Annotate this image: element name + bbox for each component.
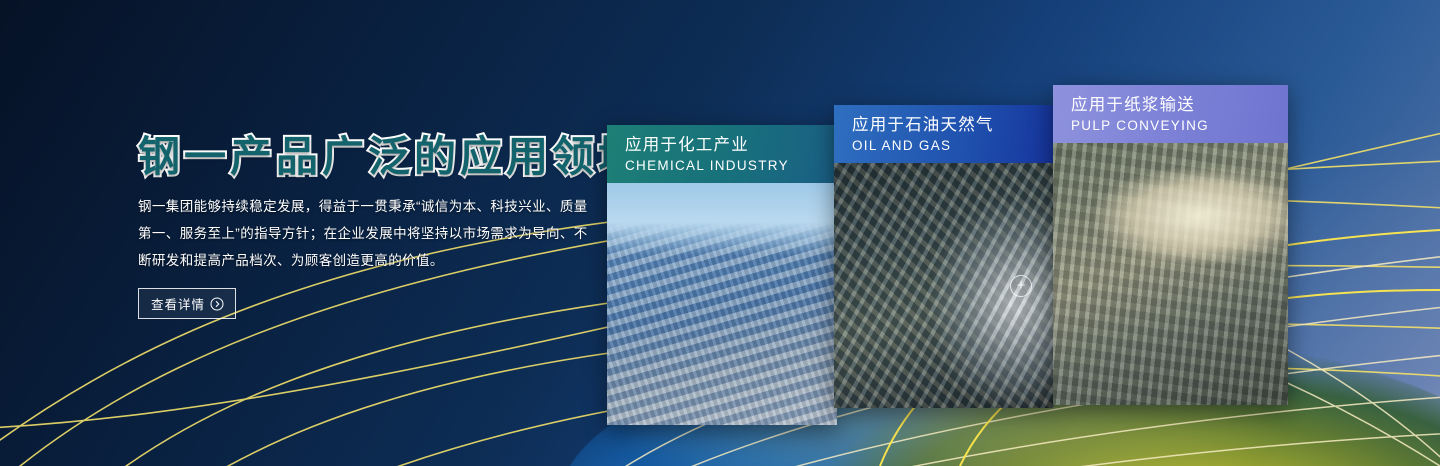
card-image-pulp bbox=[1053, 143, 1288, 405]
card-title-en: OIL AND GAS bbox=[852, 137, 1054, 155]
page-title: 钢一产品广泛的应用领域 bbox=[138, 134, 608, 179]
card-title-cn: 应用于纸浆输送 bbox=[1071, 95, 1288, 116]
card-image-chemical bbox=[607, 183, 837, 425]
zoom-in-icon[interactable]: + bbox=[1010, 275, 1032, 297]
view-details-label: 查看详情 bbox=[151, 294, 205, 313]
card-image-oil-gas: + bbox=[834, 163, 1054, 408]
hero-banner: 钢一产品广泛的应用领域 钢一集团能够持续稳定发展，得益于一贯秉承“诚信为本、科技… bbox=[0, 0, 1440, 466]
hero-description: 钢一集团能够持续稳定发展，得益于一贯秉承“诚信为本、科技兴业、质量第一、服务至上… bbox=[138, 193, 588, 274]
card-title-en: CHEMICAL INDUSTRY bbox=[625, 157, 837, 175]
application-card-chemical[interactable]: 应用于化工产业 CHEMICAL INDUSTRY bbox=[607, 125, 837, 425]
card-title-en: PULP CONVEYING bbox=[1071, 117, 1288, 135]
card-header-chemical: 应用于化工产业 CHEMICAL INDUSTRY bbox=[607, 125, 837, 183]
card-header-oil-gas: 应用于石油天然气 OIL AND GAS bbox=[834, 105, 1054, 163]
card-title-cn: 应用于石油天然气 bbox=[852, 115, 1054, 136]
chevron-right-circle-icon bbox=[210, 297, 224, 311]
card-title-cn: 应用于化工产业 bbox=[625, 135, 837, 156]
view-details-button[interactable]: 查看详情 bbox=[138, 288, 236, 319]
card-header-pulp: 应用于纸浆输送 PULP CONVEYING bbox=[1053, 85, 1288, 143]
application-card-pulp[interactable]: 应用于纸浆输送 PULP CONVEYING bbox=[1053, 85, 1288, 405]
application-card-oil-gas[interactable]: 应用于石油天然气 OIL AND GAS + bbox=[834, 105, 1054, 408]
hero-copy: 钢一产品广泛的应用领域 钢一集团能够持续稳定发展，得益于一贯秉承“诚信为本、科技… bbox=[138, 134, 608, 319]
